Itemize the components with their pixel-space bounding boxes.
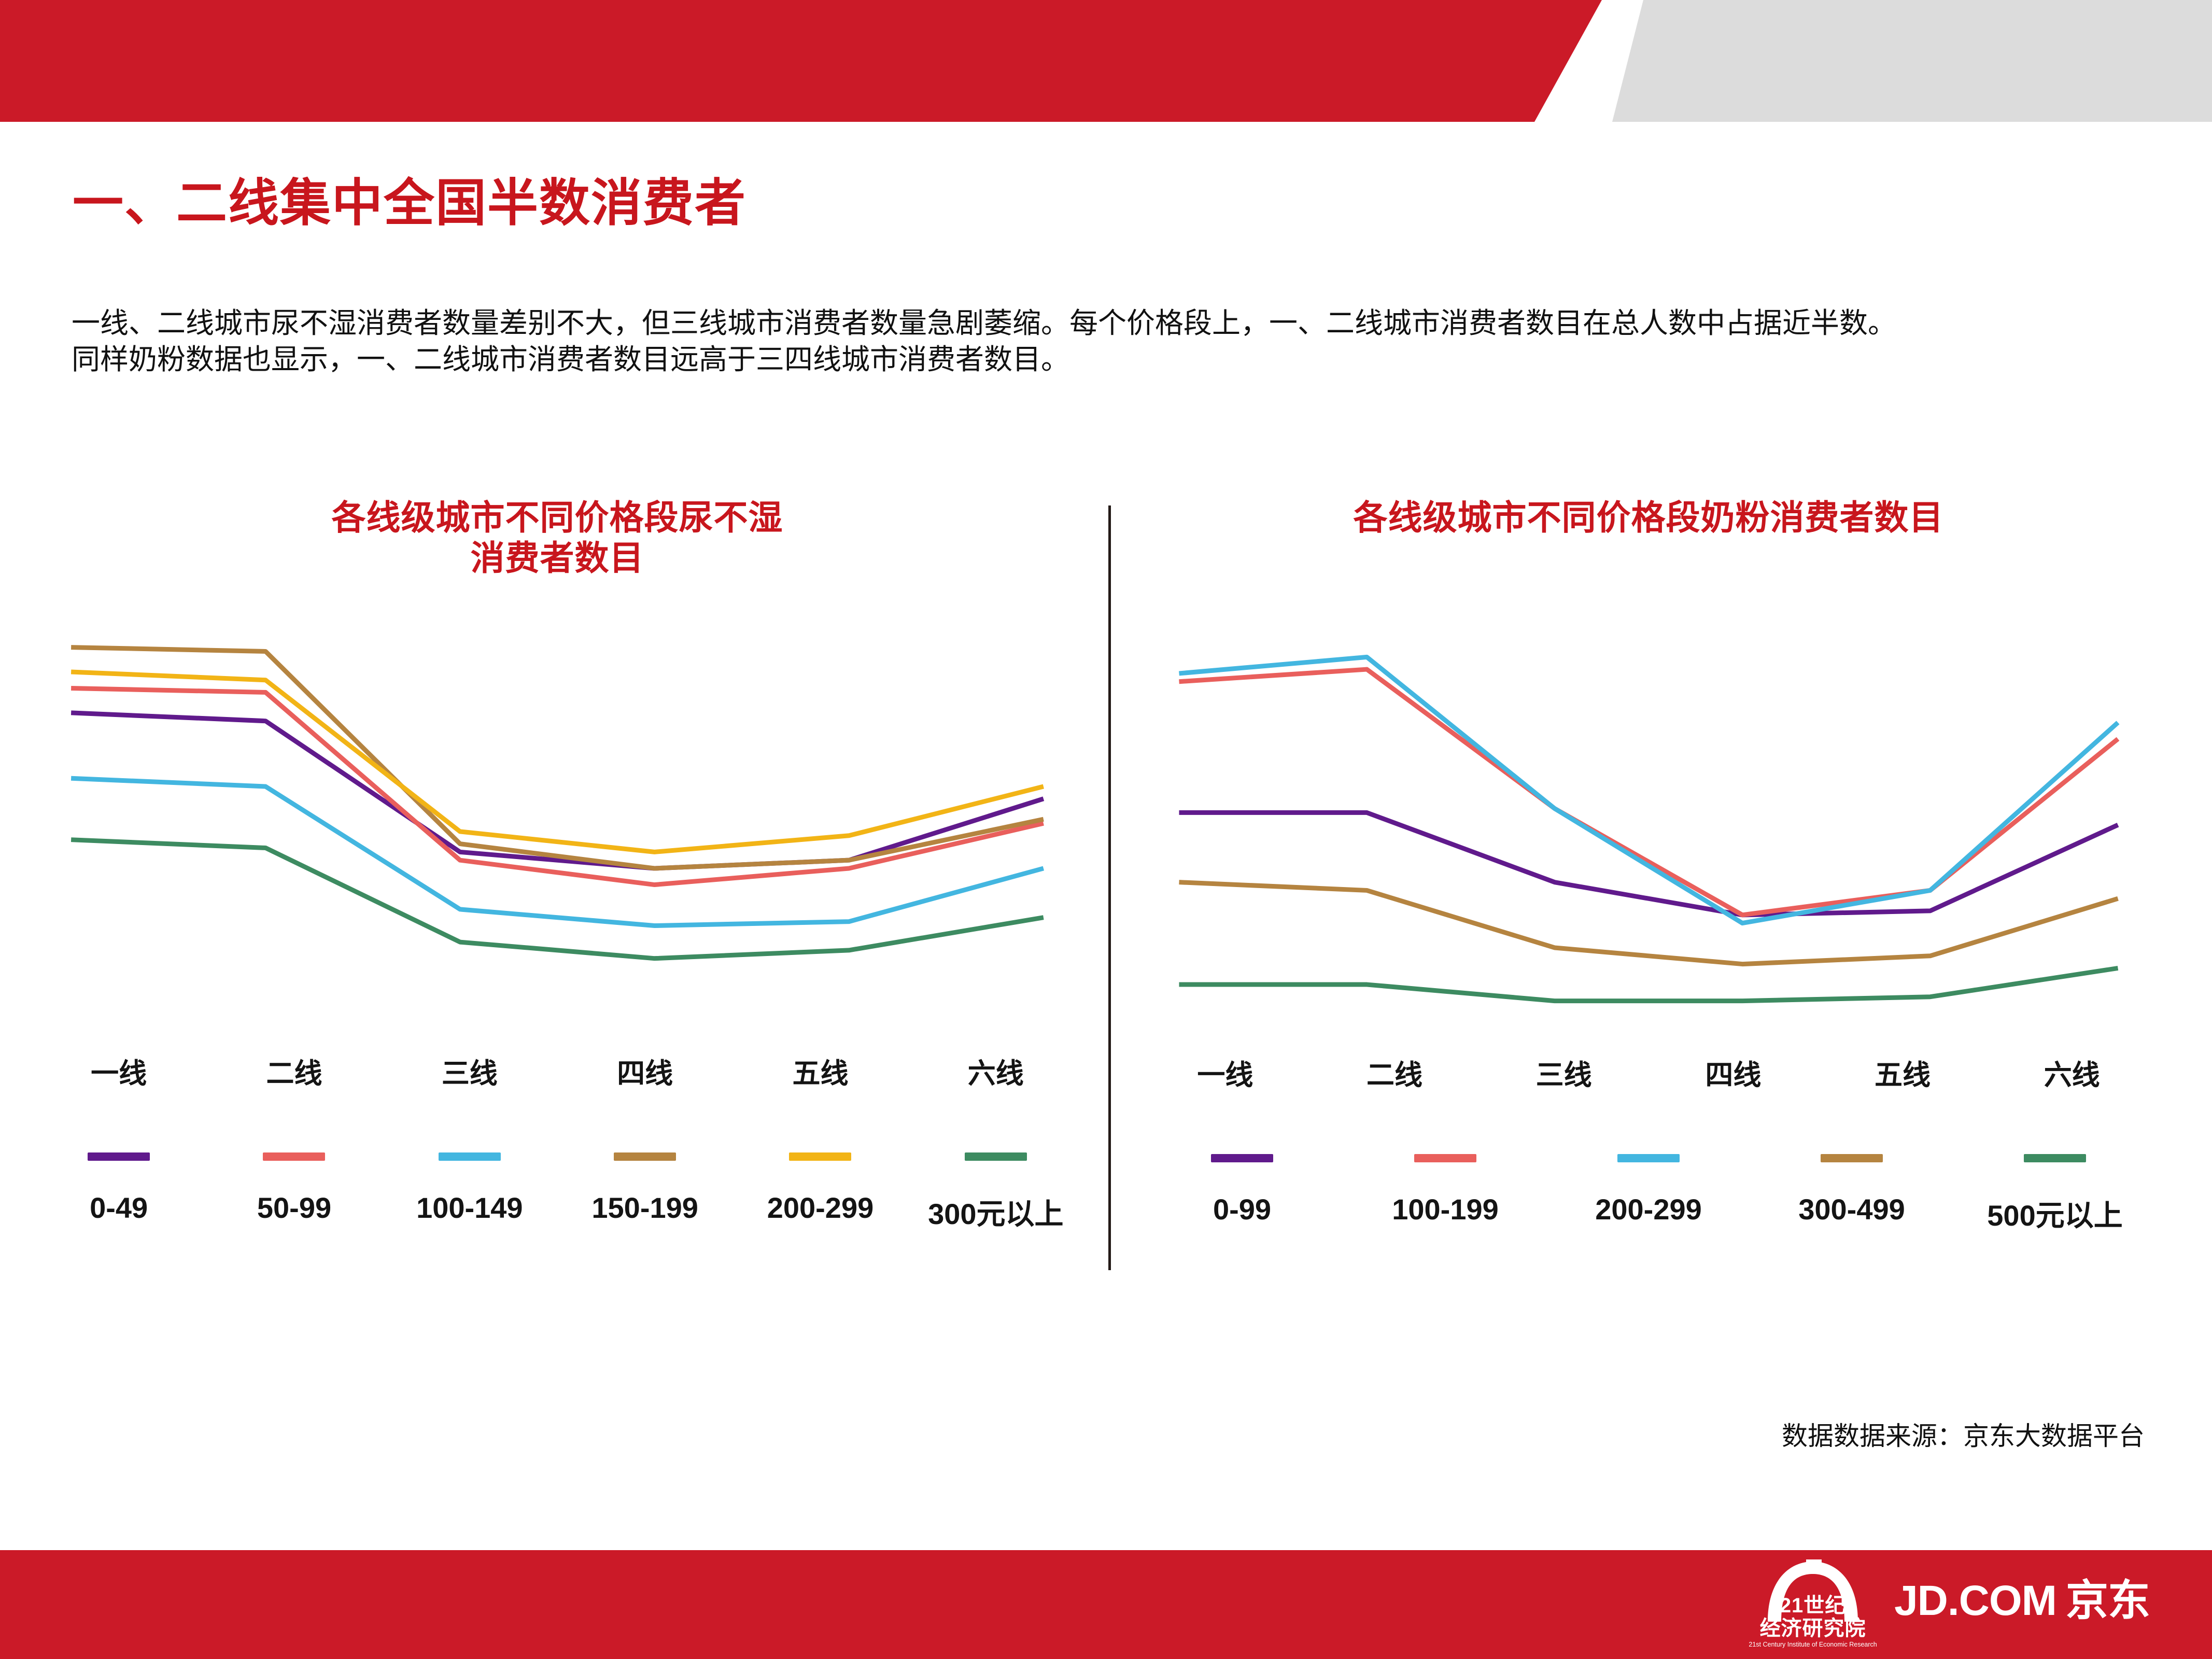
body-paragraph-2: 同样奶粉数据也显示，一、二线城市消费者数目远高于三四线城市消费者数目。	[72, 341, 2150, 377]
chart-milk-powder-x-axis: 一线 二线 三线 四线 五线 六线	[1140, 1052, 2157, 1093]
slide-root: 一、二线集中全国半数消费者 一线、二线城市尿不湿消费者数量差别不大，但三线城市消…	[0, 0, 2212, 1659]
legend-label: 100-199	[1392, 1192, 1499, 1226]
legend-swatch-icon	[2024, 1154, 2086, 1162]
chart-milk-powder-title-line-1: 各线级城市不同价格段奶粉消费者数目	[1140, 498, 2157, 538]
legend-item[interactable]: 300元以上	[908, 1152, 1083, 1233]
legend-label: 150-199	[591, 1191, 698, 1225]
legend-swatch-icon	[1414, 1154, 1476, 1162]
x-tick-label: 六线	[1987, 1052, 2157, 1093]
legend-swatch-icon	[789, 1152, 851, 1161]
x-tick-label: 二线	[206, 1050, 382, 1091]
legend-item[interactable]: 150-199	[557, 1152, 732, 1233]
chart-divider	[1108, 505, 1111, 1270]
header-gray-shape	[1612, 0, 2212, 122]
legend-swatch-icon	[1211, 1154, 1273, 1162]
chart-diapers-legend: 0-49 50-99 100-149 150-199 200-299 300元以…	[31, 1152, 1083, 1233]
legend-swatch-icon	[439, 1152, 501, 1161]
header-red-shape	[0, 0, 1602, 122]
chart-milk-powder-plot	[1140, 611, 2157, 1047]
x-tick-label: 六线	[908, 1050, 1083, 1091]
logo-21st-century: 21世纪 经济研究院 21st Century Institute of Eco…	[1758, 1557, 1867, 1648]
logo-jd: JD.COM京东	[1894, 1580, 2150, 1625]
logo-jd-cn: 京东	[2066, 1577, 2150, 1624]
legend-item[interactable]: 300-499	[1750, 1154, 1953, 1234]
x-tick-label: 四线	[1649, 1052, 1818, 1093]
chart-milk-powder-legend: 0-99 100-199 200-299 300-499 500元以上	[1140, 1154, 2157, 1234]
logo-21-subtitle: 21st Century Institute of Economic Resea…	[1749, 1641, 1877, 1648]
body-paragraph-1: 一线、二线城市尿不湿消费者数量差别不大，但三线城市消费者数量急剧萎缩。每个价格段…	[72, 305, 2150, 341]
legend-label: 200-299	[767, 1191, 874, 1225]
legend-item[interactable]: 0-99	[1140, 1154, 1344, 1234]
logo-21-line-2: 经济研究院	[1760, 1618, 1866, 1639]
x-tick-label: 五线	[1818, 1052, 1988, 1093]
legend-swatch-icon	[1821, 1154, 1883, 1162]
legend-label: 0-99	[1213, 1192, 1271, 1226]
chart-diapers-title: 各线级城市不同价格段尿不湿 消费者数目	[31, 498, 1083, 579]
footer-logos: 21世纪 经济研究院 21st Century Institute of Eco…	[1758, 1553, 2150, 1652]
data-source-note: 数据数据来源：京东大数据平台	[1782, 1415, 2145, 1453]
legend-label: 0-49	[90, 1191, 148, 1225]
legend-label: 300元以上	[928, 1191, 1063, 1233]
x-tick-label: 四线	[557, 1050, 732, 1091]
legend-swatch-icon	[614, 1152, 676, 1161]
chart-milk-powder-title: 各线级城市不同价格段奶粉消费者数目	[1140, 498, 2157, 538]
chart-diapers: 各线级城市不同价格段尿不湿 消费者数目 一线 二线 三线 四线 五线 六线 0-…	[31, 498, 1083, 1233]
legend-item[interactable]: 50-99	[206, 1152, 382, 1233]
legend-label: 300-499	[1798, 1192, 1905, 1226]
chart-milk-powder-lines	[1140, 611, 2157, 1047]
legend-label: 500元以上	[1987, 1192, 2122, 1234]
x-tick-label: 一线	[1140, 1052, 1310, 1093]
footer-band: 21世纪 经济研究院 21st Century Institute of Eco…	[0, 1550, 2212, 1659]
logo-21-line-1: 21世纪	[1780, 1595, 1847, 1616]
x-tick-label: 一线	[31, 1050, 206, 1091]
chart-milk-powder: 各线级城市不同价格段奶粉消费者数目 一线 二线 三线 四线 五线 六线 0-99…	[1140, 498, 2157, 1234]
legend-item[interactable]: 0-49	[31, 1152, 206, 1233]
body-text: 一线、二线城市尿不湿消费者数量差别不大，但三线城市消费者数量急剧萎缩。每个价格段…	[72, 305, 2150, 378]
page-title: 一、二线集中全国半数消费者	[73, 176, 746, 230]
legend-item[interactable]: 100-149	[382, 1152, 557, 1233]
chart-diapers-title-line-2: 消费者数目	[31, 538, 1083, 579]
header-band	[0, 0, 2212, 122]
legend-swatch-icon	[965, 1152, 1027, 1161]
legend-swatch-icon	[88, 1152, 150, 1161]
legend-item[interactable]: 100-199	[1344, 1154, 1547, 1234]
legend-swatch-icon	[263, 1152, 325, 1161]
chart-diapers-x-axis: 一线 二线 三线 四线 五线 六线	[31, 1050, 1083, 1091]
chart-diapers-title-line-1: 各线级城市不同价格段尿不湿	[31, 498, 1083, 538]
x-tick-label: 二线	[1310, 1052, 1480, 1093]
chart-diapers-plot	[31, 610, 1083, 1045]
legend-item[interactable]: 200-299	[1547, 1154, 1750, 1234]
x-tick-label: 五线	[732, 1050, 908, 1091]
logo-jd-en: JD.COM	[1894, 1577, 2056, 1624]
legend-swatch-icon	[1617, 1154, 1680, 1162]
x-tick-label: 三线	[1479, 1052, 1649, 1093]
legend-item[interactable]: 500元以上	[1953, 1154, 2157, 1234]
x-tick-label: 三线	[382, 1050, 557, 1091]
legend-label: 200-299	[1595, 1192, 1702, 1226]
legend-item[interactable]: 200-299	[732, 1152, 908, 1233]
legend-label: 50-99	[257, 1191, 331, 1225]
legend-label: 100-149	[416, 1191, 523, 1225]
chart-diapers-lines	[31, 610, 1083, 1045]
